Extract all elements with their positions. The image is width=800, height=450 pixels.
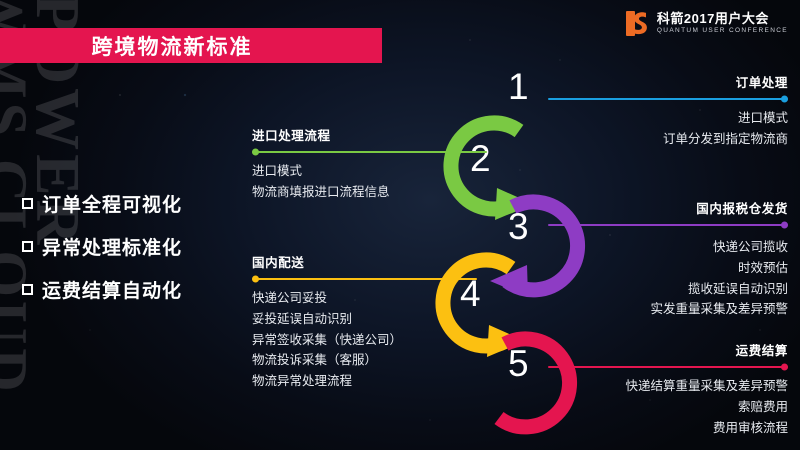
step-item: 快递公司妥投 (252, 289, 477, 308)
step-number-3: 3 (508, 208, 529, 245)
slide-title-band: 跨境物流新标准 (0, 28, 382, 63)
step-rule-dot (252, 276, 259, 283)
list-item: 运费结算自动化 (22, 276, 182, 303)
step-item: 进口模式 (548, 109, 788, 128)
step-item: 物流商填报进口流程信息 (252, 183, 487, 202)
key-points-list: 订单全程可视化 异常处理标准化 运费结算自动化 (22, 190, 182, 303)
step-heading: 进口处理流程 (252, 125, 487, 144)
list-item: 异常处理标准化 (22, 233, 182, 260)
step-item: 快递结算重量采集及差异预警 (548, 377, 788, 396)
step-rule-dot (781, 96, 788, 103)
step-rule (252, 278, 477, 280)
step-rule (548, 224, 788, 226)
step-rule (548, 366, 788, 368)
step-item: 快递公司揽收 (548, 238, 788, 257)
logo-name-en: QUANTUM USER CONFERENCE (657, 28, 788, 35)
step-rule-dot (252, 149, 259, 156)
step-item: 揽收延误自动识别 (548, 280, 788, 299)
step-rule-dot (781, 364, 788, 371)
step-item: 时效预估 (548, 259, 788, 278)
step-rule (548, 98, 788, 100)
step-item: 订单分发到指定物流商 (548, 130, 788, 149)
step-item: 物流投诉采集（客服） (252, 351, 477, 370)
conference-logo: 科箭2017用户大会 QUANTUM USER CONFERENCE (626, 11, 788, 36)
step-items: 快递结算重量采集及差异预警 索赔费用 费用审核流程 (548, 377, 788, 437)
step-items: 快递公司揽收 时效预估 揽收延误自动识别 实发重量采集及差异预警 (548, 238, 788, 319)
step-items: 快递公司妥投 妥投延误自动识别 异常签收采集（快递公司） 物流投诉采集（客服） … (252, 289, 477, 391)
page-title: 跨境物流新标准 (92, 31, 253, 61)
bullet-label: 运费结算自动化 (42, 276, 182, 303)
hollow-square-icon (22, 198, 33, 209)
step-heading: 国内配送 (252, 252, 477, 271)
step-items: 进口模式 订单分发到指定物流商 (548, 109, 788, 149)
step-items: 进口模式 物流商填报进口流程信息 (252, 162, 487, 202)
quantum-s-logo-icon (626, 11, 650, 36)
bullet-label: 订单全程可视化 (42, 190, 182, 217)
bullet-label: 异常处理标准化 (42, 233, 182, 260)
step-heading: 运费结算 (548, 340, 788, 359)
step-number-5: 5 (508, 345, 529, 382)
step-item: 妥投延误自动识别 (252, 310, 477, 329)
step-item: 物流异常处理流程 (252, 372, 477, 391)
step-rule (252, 151, 487, 153)
slide-canvas: POWER WMS CLOUD 跨境物流新标准 科箭2017用户大会 QUANT… (0, 0, 800, 450)
logo-name-cn: 科箭2017用户大会 (657, 12, 788, 25)
hollow-square-icon (22, 284, 33, 295)
step-block-domestic-delivery: 国内配送 快递公司妥投 妥投延误自动识别 异常签收采集（快递公司） 物流投诉采集… (252, 252, 477, 391)
logo-wordmark: 科箭2017用户大会 QUANTUM USER CONFERENCE (657, 12, 788, 35)
step-block-order-processing: 订单处理 进口模式 订单分发到指定物流商 (548, 72, 788, 149)
step-block-import-process: 进口处理流程 进口模式 物流商填报进口流程信息 (252, 125, 487, 202)
step-block-bonded-warehouse: 国内报税仓发货 快递公司揽收 时效预估 揽收延误自动识别 实发重量采集及差异预警 (548, 198, 788, 319)
step-item: 进口模式 (252, 162, 487, 181)
step-item: 实发重量采集及差异预警 (548, 300, 788, 319)
list-item: 订单全程可视化 (22, 190, 182, 217)
step-rule-dot (781, 222, 788, 229)
step-item: 费用审核流程 (548, 419, 788, 438)
step-item: 异常签收采集（快递公司） (252, 331, 477, 350)
step-number-1: 1 (508, 68, 529, 105)
step-block-freight-settlement: 运费结算 快递结算重量采集及差异预警 索赔费用 费用审核流程 (548, 340, 788, 437)
hollow-square-icon (22, 241, 33, 252)
step-heading: 订单处理 (548, 72, 788, 91)
step-item: 索赔费用 (548, 398, 788, 417)
step-heading: 国内报税仓发货 (548, 198, 788, 217)
